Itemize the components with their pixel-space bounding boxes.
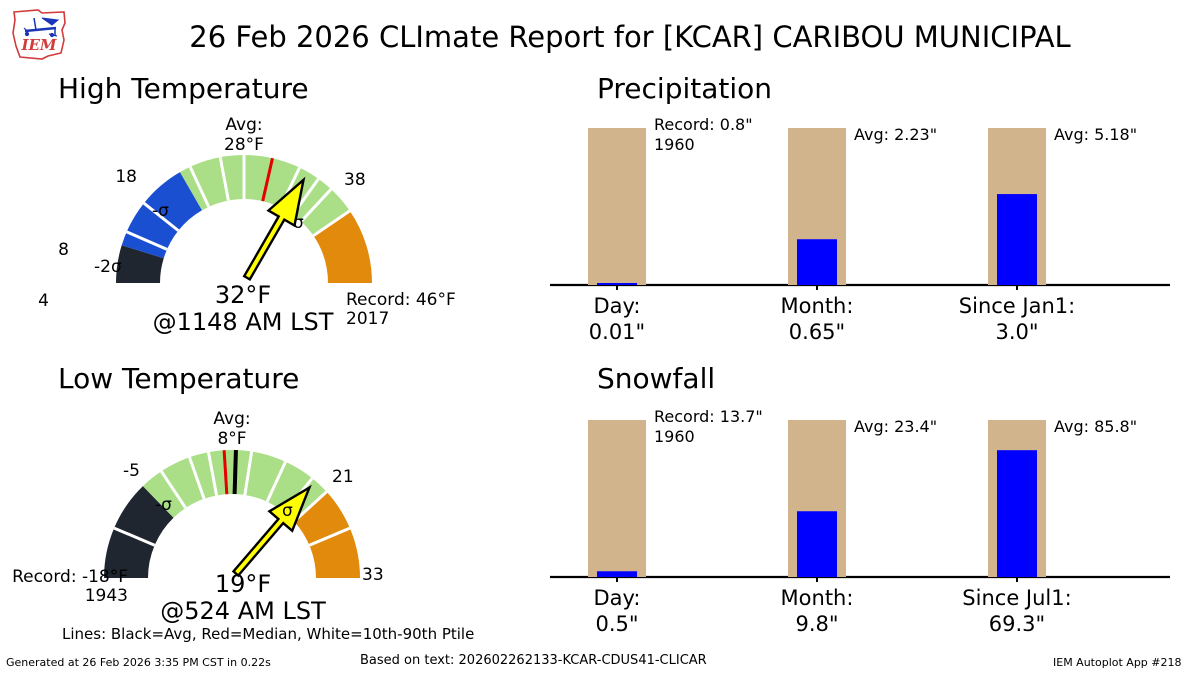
footer-app-id: IEM Autoplot App #218 [1053, 656, 1182, 669]
gauge-legend-note: Lines: Black=Avg, Red=Median, White=10th… [62, 625, 474, 643]
svg-text:33: 33 [362, 565, 384, 585]
page-title: 26 Feb 2026 CLImate Report for [KCAR] CA… [70, 20, 1190, 54]
footer-source: Based on text: 202602262133-KCAR-CDUS41-… [360, 653, 707, 668]
svg-text:2017: 2017 [346, 309, 389, 329]
gauge-average-line [235, 450, 236, 494]
bar-value-1 [797, 239, 837, 285]
bar-reference-0 [588, 128, 646, 285]
svg-text:38: 38 [344, 170, 366, 190]
bar-value-2 [997, 450, 1037, 577]
iem-logo[interactable]: IEM [8, 6, 70, 62]
svg-text:-σ: -σ [155, 495, 172, 515]
iem-logo-icon: IEM [8, 6, 70, 62]
svg-text:18: 18 [115, 167, 137, 187]
bar-chart-precipitation: Day:0.01"Record: 0.8"1960Month:0.65"Avg:… [550, 110, 1190, 340]
bar-category-label-1: Month: [781, 294, 854, 318]
svg-text:@524 AM LST: @524 AM LST [160, 597, 326, 625]
svg-text:σ: σ [282, 501, 293, 521]
svg-text:Avg:: Avg: [213, 409, 250, 429]
svg-text:8°F: 8°F [217, 429, 246, 449]
bar-reference-sublabel-0: 1960 [654, 427, 695, 446]
panel-title-precipitation: Precipitation [597, 72, 772, 105]
bar-category-label-0: Day: [593, 294, 640, 318]
bar-value-2 [997, 194, 1037, 285]
bar-reference-label-1: Avg: 2.23" [854, 125, 937, 144]
svg-text:Avg:: Avg: [225, 115, 262, 135]
gauge-high-temperature: 481838-2σ-σσAvg:28°F32°F@1148 AM LSTReco… [0, 100, 540, 340]
svg-text:@1148 AM LST: @1148 AM LST [153, 308, 334, 336]
svg-text:1943: 1943 [85, 586, 128, 606]
bar-value-label-0: 0.01" [589, 320, 645, 344]
svg-text:19°F: 19°F [215, 570, 271, 598]
bar-value-label-1: 9.8" [795, 612, 838, 636]
svg-text:σ: σ [293, 213, 304, 233]
svg-text:21: 21 [332, 467, 354, 487]
bar-value-label-2: 3.0" [995, 320, 1038, 344]
bar-value-0 [597, 571, 637, 577]
bar-value-label-2: 69.3" [989, 612, 1045, 636]
bar-reference-label-0: Record: 13.7" [654, 407, 763, 426]
bar-category-label-0: Day: [593, 586, 640, 610]
bar-reference-sublabel-0: 1960 [654, 135, 695, 154]
climate-report-page: IEM 26 Feb 2026 CLImate Report for [KCAR… [0, 0, 1200, 675]
gauge-low-temperature: -52133-σσAvg:8°F19°F@524 AM LSTRecord: -… [0, 392, 540, 632]
bar-value-0 [597, 283, 637, 285]
bar-category-label-1: Month: [781, 586, 854, 610]
svg-text:Record: 46°F: Record: 46°F [346, 290, 456, 310]
bar-reference-0 [588, 420, 646, 577]
bar-value-1 [797, 511, 837, 577]
svg-text:IEM: IEM [20, 36, 56, 54]
bar-reference-label-1: Avg: 23.4" [854, 417, 937, 436]
svg-text:8: 8 [58, 240, 69, 260]
bar-reference-label-2: Avg: 85.8" [1054, 417, 1137, 436]
bar-category-label-2: Since Jul1: [962, 586, 1071, 610]
svg-text:28°F: 28°F [224, 135, 264, 155]
svg-text:-σ: -σ [152, 201, 169, 221]
bar-reference-label-2: Avg: 5.18" [1054, 125, 1137, 144]
footer-generated: Generated at 26 Feb 2026 3:35 PM CST in … [6, 656, 271, 669]
svg-text:Record: -18°F: Record: -18°F [12, 567, 128, 587]
bar-category-label-2: Since Jan1: [959, 294, 1075, 318]
bar-value-label-0: 0.5" [595, 612, 638, 636]
svg-text:4: 4 [38, 291, 49, 311]
svg-text:-5: -5 [123, 461, 140, 481]
bar-value-label-1: 0.65" [789, 320, 845, 344]
panel-title-low-temperature: Low Temperature [58, 362, 299, 395]
bar-reference-label-0: Record: 0.8" [654, 115, 753, 134]
svg-text:-2σ: -2σ [94, 257, 122, 277]
bar-chart-snowfall: Day:0.5"Record: 13.7"1960Month:9.8"Avg: … [550, 402, 1190, 632]
panel-title-snowfall: Snowfall [597, 362, 715, 395]
svg-text:32°F: 32°F [215, 281, 271, 309]
